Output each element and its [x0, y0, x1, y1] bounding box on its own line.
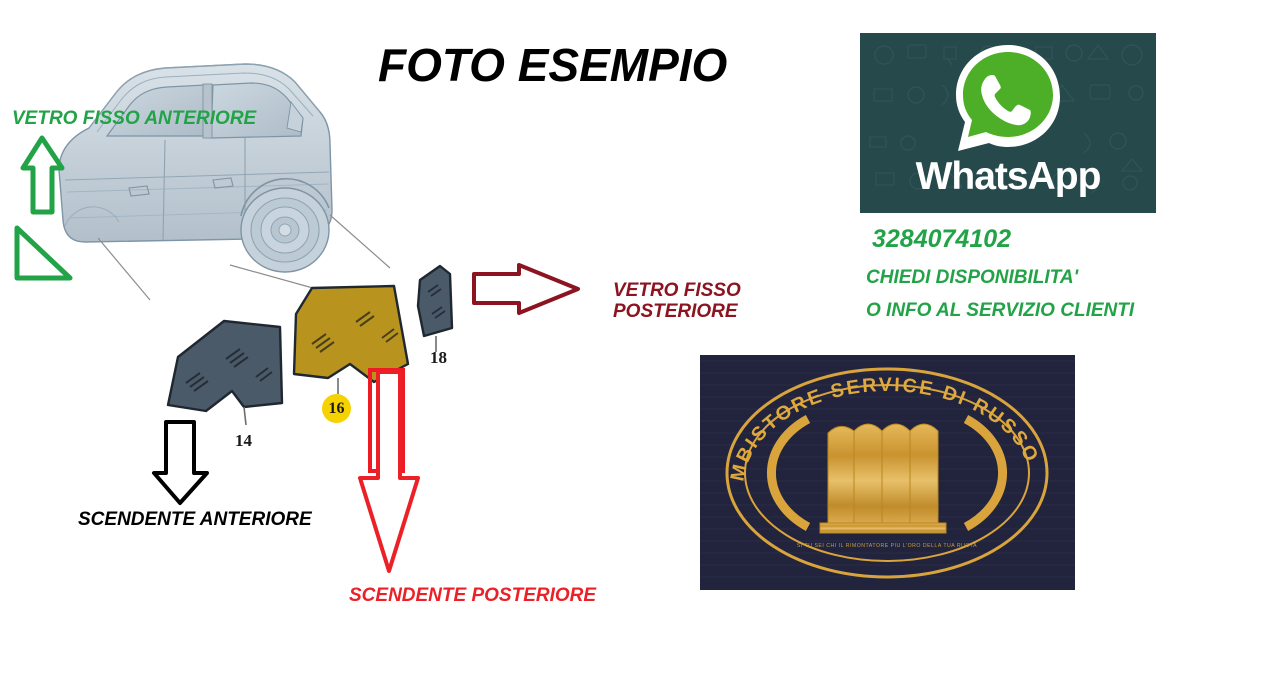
label-scendente-posteriore: SCENDENTE POSTERIORE — [349, 585, 596, 606]
part-17-highlight-box — [368, 368, 405, 473]
whatsapp-banner[interactable]: WhatsApp — [860, 33, 1156, 213]
phone-number[interactable]: 3284074102 — [872, 225, 1011, 254]
label-vetro-fisso-anteriore: VETRO FISSO ANTERIORE — [12, 108, 256, 129]
part-number-18: 18 — [430, 348, 447, 368]
whatsapp-wordmark: WhatsApp — [860, 155, 1156, 199]
label-scendente-anteriore: SCENDENTE ANTERIORE — [78, 509, 312, 530]
brand-logo-mark: MRICAMBISTORE SERVICE DI RUSSO MARCO SI … — [700, 355, 1075, 590]
label-vetro-fisso-posteriore-line1: VETRO FISSO — [613, 280, 741, 301]
label-vetro-fisso-posteriore-line2: POSTERIORE — [613, 301, 741, 322]
contact-line-2: O INFO AL SERVIZIO CLIENTI — [866, 300, 1134, 321]
brand-logo-plate: MRICAMBISTORE SERVICE DI RUSSO MARCO SI … — [700, 355, 1075, 590]
part-number-16-badge: 16 — [322, 394, 351, 423]
whatsapp-phone-bubble-icon — [946, 39, 1070, 159]
part-18-rear-quarter-glass — [410, 262, 460, 357]
part-number-14: 14 — [235, 431, 252, 451]
part-14-front-door-glass — [160, 315, 290, 425]
part-number-17: 17 — [379, 398, 396, 418]
contact-line-1: CHIEDI DISPONIBILITA' — [866, 267, 1078, 288]
label-vetro-fisso-posteriore: VETRO FISSO POSTERIORE — [613, 280, 741, 323]
brand-sub-text: SI TU SEI CHI IL RIMONTATORE PIU L'ORO D… — [797, 543, 977, 549]
screenshot-canvas: 14 16 17 18 FOTO ESEMPIO VETRO FISSO ANT… — [0, 0, 1264, 678]
page-title: FOTO ESEMPIO — [378, 38, 727, 92]
